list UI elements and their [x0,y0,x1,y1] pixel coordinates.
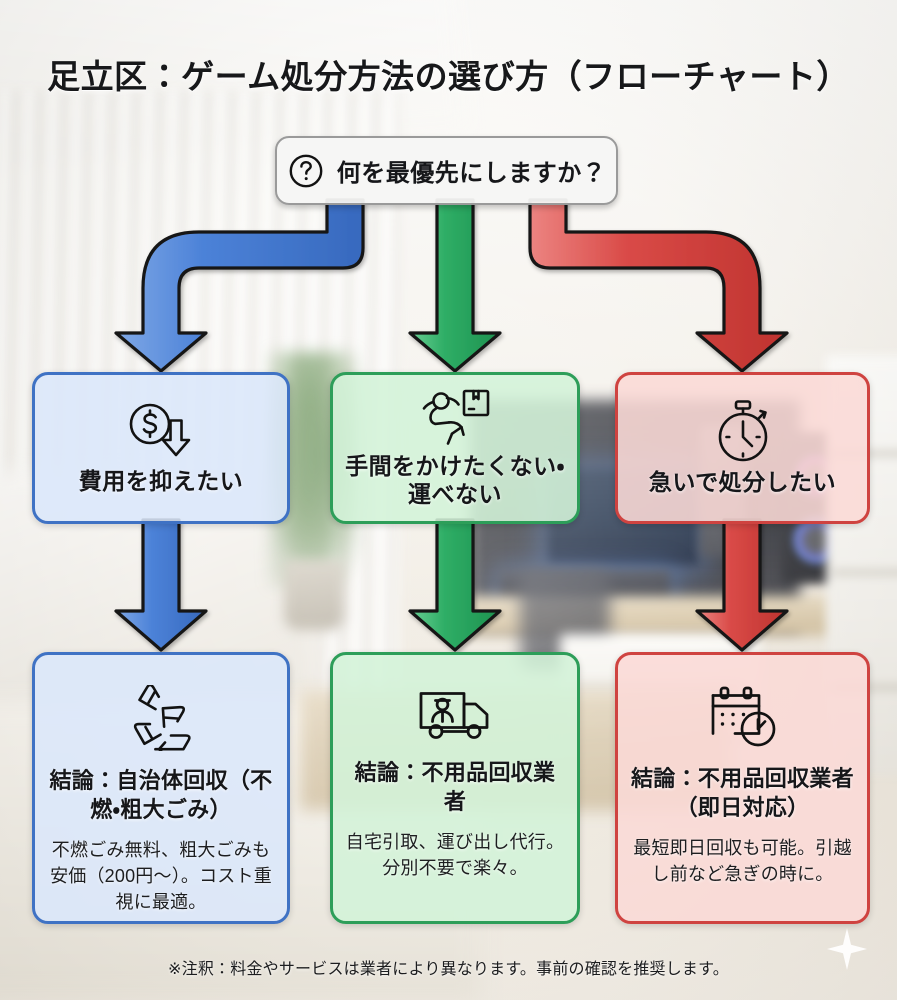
result-desc-cost: 不燃ごみ無料、粗大ごみも安価（200円〜）。コスト重視に最適。 [47,838,275,916]
infographic-canvas: 足立区：ゲーム処分方法の選び方（フローチャート） [0,0,897,1000]
result-node-speed[interactable]: 結論：不用品回収業者（即日対応） 最短即日回収も可能。引越し前など急ぎの時に。 [615,652,870,924]
branch-node-speed[interactable]: 急いで処分したい [615,372,870,524]
branch-node-effort[interactable]: 手間をかけたくない・運べない [330,372,580,524]
money-decrease-icon [124,399,198,463]
root-question-label: 何を最優先にしますか？ [337,153,607,188]
delivery-truck-icon [417,685,493,743]
result-title-speed: 結論：不用品回収業者（即日対応） [630,765,855,822]
branch-label-speed: 急いで処分したい [649,468,836,496]
stopwatch-icon [711,398,775,464]
result-desc-effort: 自宅引取、運び出し代行。分別不要で楽々。 [345,830,565,882]
calendar-clock-icon [707,685,779,749]
result-title-effort: 結論：不用品回収業者 [345,759,565,816]
recycle-icon [125,685,197,751]
result-node-cost[interactable]: 結論：自治体回収（不燃・粗大ごみ） 不燃ごみ無料、粗大ごみも安価（200円〜）。… [32,652,290,924]
branch-label-effort: 手間をかけたくない・運べない [341,452,569,508]
result-title-cost: 結論：自治体回収（不燃・粗大ごみ） [47,767,275,824]
result-node-effort[interactable]: 結論：不用品回収業者 自宅引取、運び出し代行。分別不要で楽々。 [330,652,580,924]
person-lifting-box-icon [417,386,493,448]
page-title: 足立区：ゲーム処分方法の選び方（フローチャート） [0,50,897,98]
root-question-node[interactable]: 何を最優先にしますか？ [275,136,618,205]
question-circle-icon [287,152,325,190]
result-desc-speed: 最短即日回収も可能。引越し前など急ぎの時に。 [630,836,855,888]
branch-node-cost[interactable]: 費用を抑えたい [32,372,290,524]
footnote-text: ※注釈：料金やサービスは業者により異なります。事前の確認を推奨します。 [0,955,897,979]
branch-label-cost: 費用を抑えたい [79,467,244,495]
